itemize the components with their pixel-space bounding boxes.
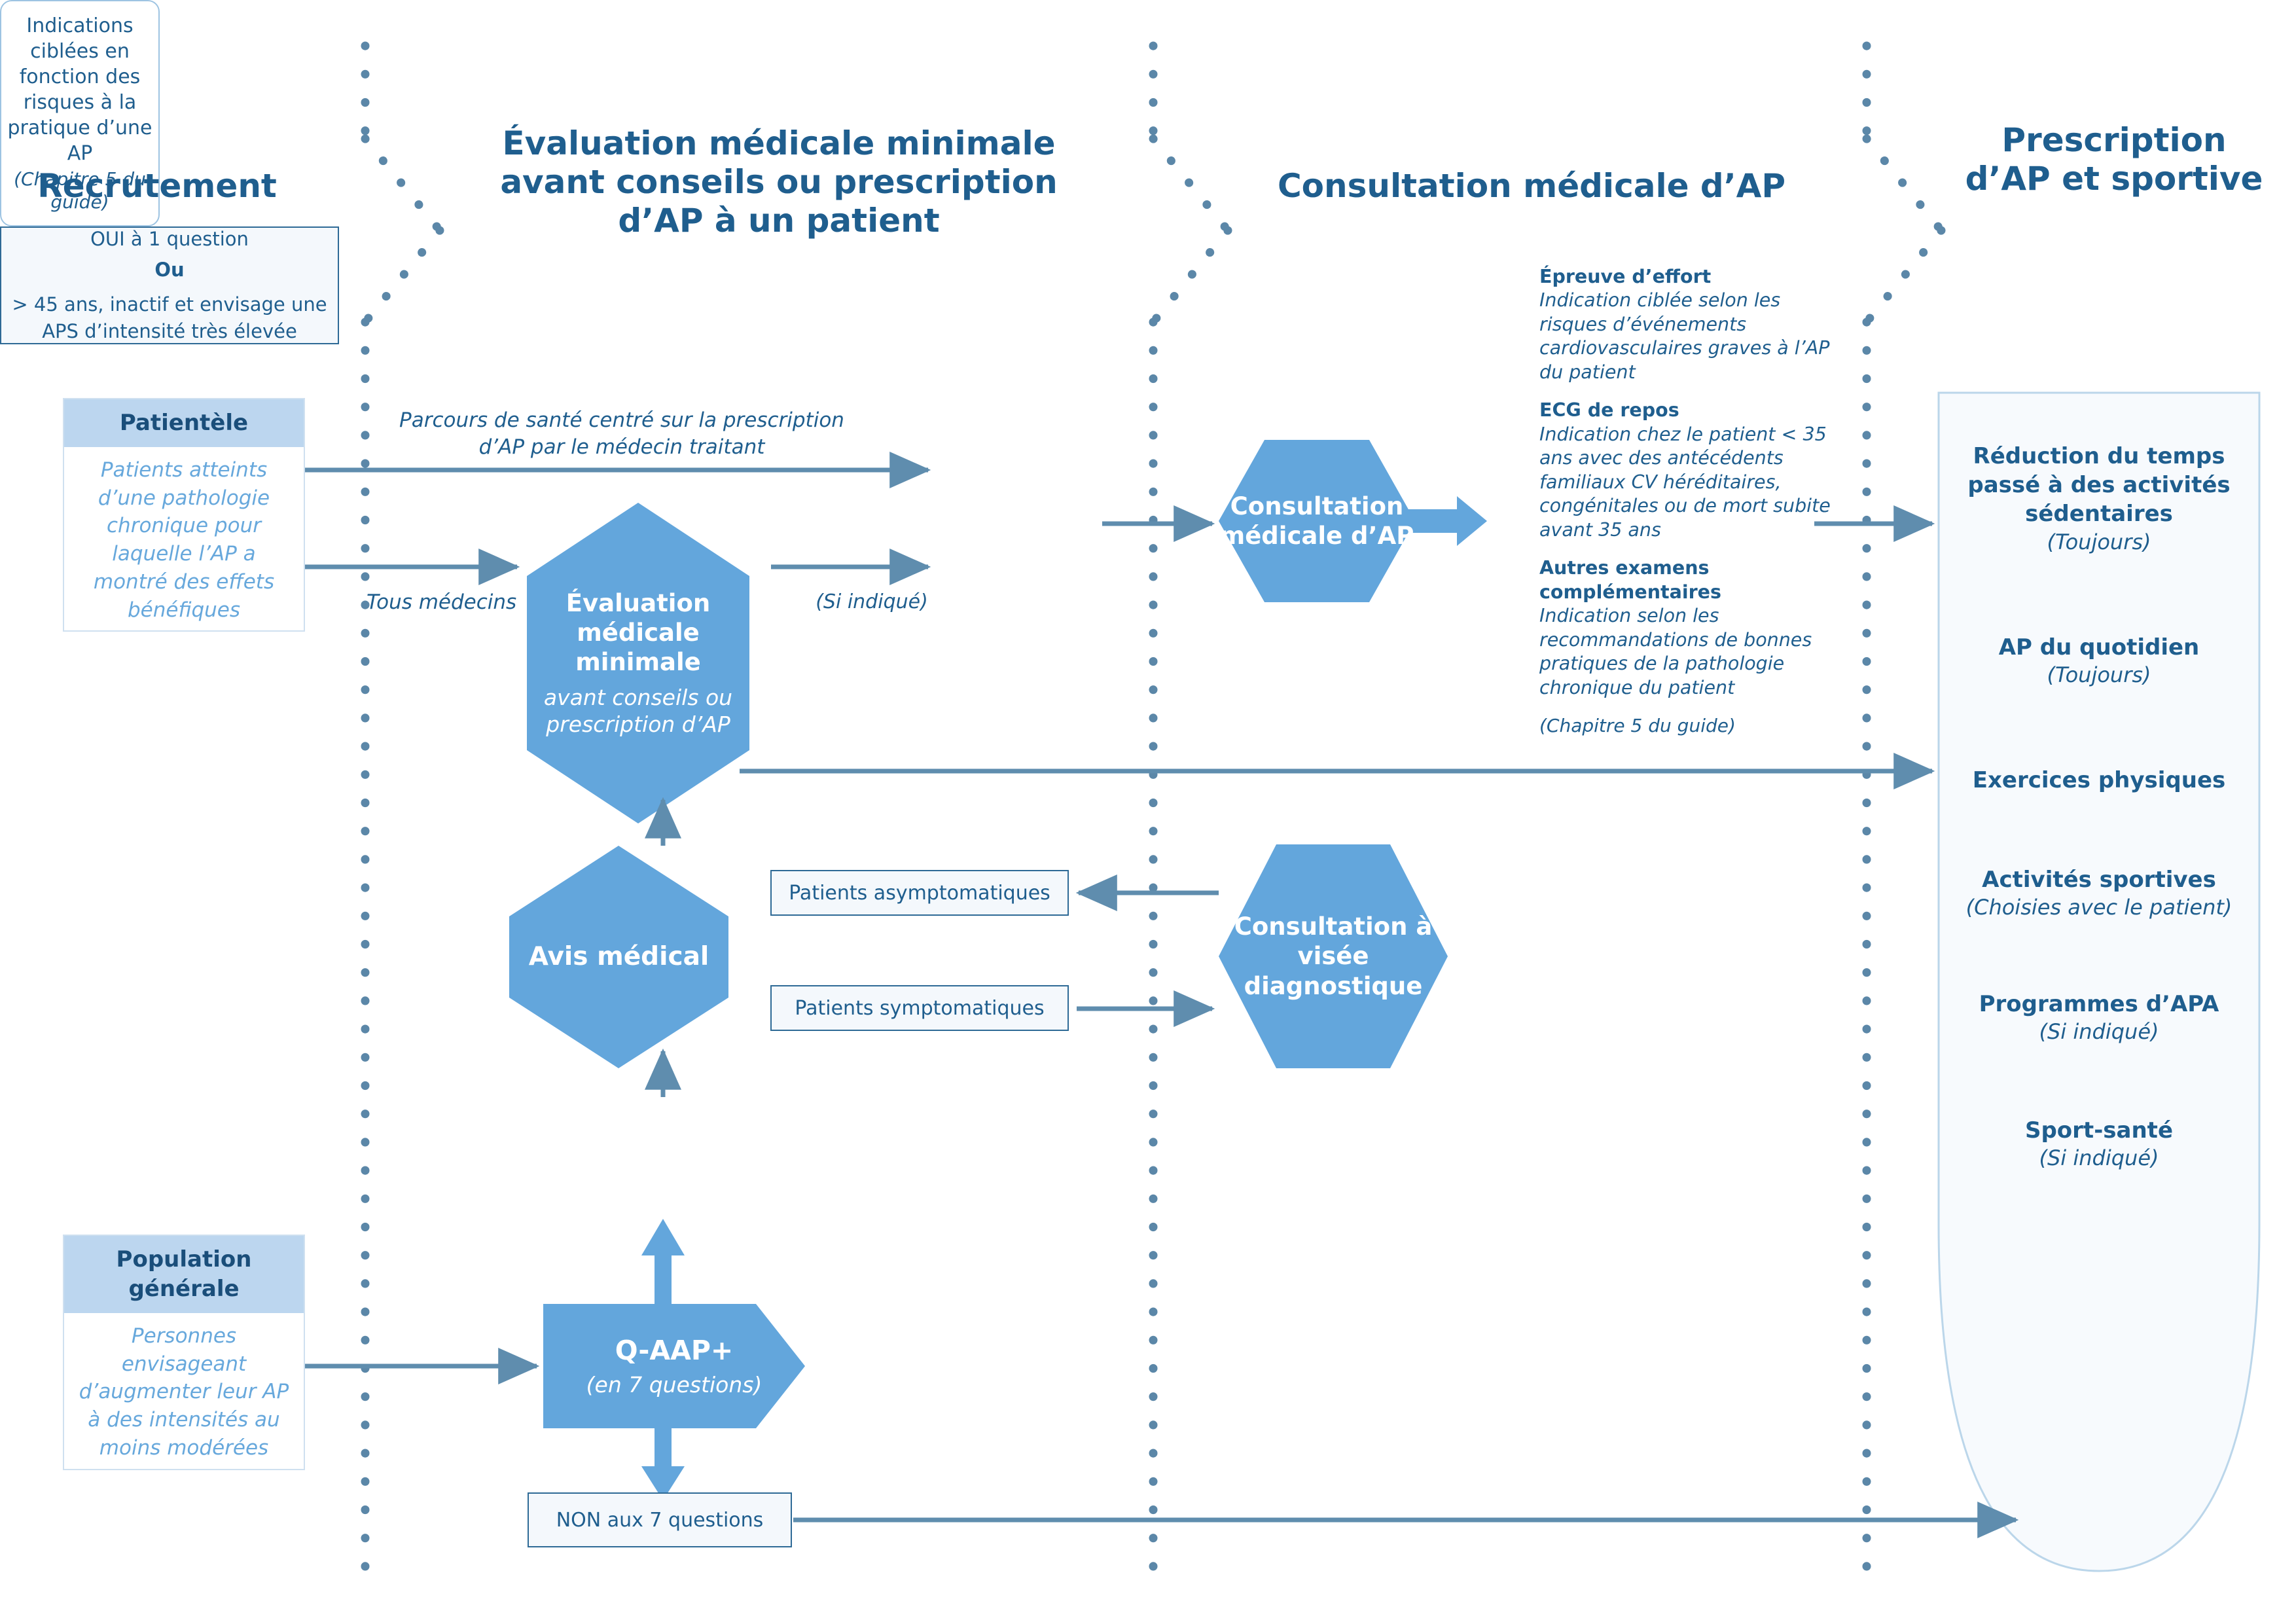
exam-body: Indication selon les recommandations de … bbox=[1539, 604, 1847, 700]
consultation-stub-arrow bbox=[1407, 496, 1487, 546]
node-evaluation-subtitle: avant conseils ou prescription d’AP bbox=[527, 685, 749, 738]
exam-item: ECG de repos Indication chez le patient … bbox=[1539, 399, 1847, 542]
funnel-item-sub: (Si indiqué) bbox=[1939, 1145, 2259, 1172]
card-patientele: Patientèle Patients atteints d’une patho… bbox=[63, 398, 305, 632]
box-oui-operator: Ou bbox=[154, 257, 184, 283]
card-population-caption: Population générale bbox=[64, 1236, 304, 1313]
label-parcours-de-sante: Parcours de santé centré sur la prescrip… bbox=[393, 407, 851, 461]
funnel-item-label: Programmes d’APA bbox=[1939, 990, 2259, 1019]
funnel-item-sub: (Si indiqué) bbox=[1939, 1019, 2259, 1045]
card-population-generale: Population générale Personnes envisagean… bbox=[63, 1235, 305, 1470]
node-consultation-medicale-ap: Consultation médicale d’AP bbox=[1219, 440, 1415, 602]
box-non-aux-7-questions: NON aux 7 questions bbox=[528, 1492, 792, 1547]
box-oui-line1: OUI à 1 question bbox=[90, 226, 249, 253]
column-divider-1 bbox=[365, 46, 440, 1571]
exams-chapter-note: (Chapitre 5 du guide) bbox=[1539, 714, 1847, 738]
box-oui-condition: OUI à 1 question Ou > 45 ans, inactif et… bbox=[0, 226, 339, 344]
node-consultation-title: Consultation médicale d’AP bbox=[1219, 492, 1415, 550]
exam-body: Indication chez le patient < 35 ans avec… bbox=[1539, 423, 1847, 542]
box-patients-asymptomatiques: Patients asymptomatiques bbox=[770, 870, 1069, 916]
qaap-down-arrow bbox=[641, 1428, 685, 1500]
funnel-item-label: Réduction du temps passé à des activités… bbox=[1939, 442, 2259, 529]
funnel-item-label: Activités sportives bbox=[1939, 865, 2259, 894]
node-evaluation-title: Évaluation médicale minimale bbox=[527, 588, 749, 677]
funnel-item-sub: (Choisies avec le patient) bbox=[1939, 894, 2259, 921]
funnel-item-sub: (Toujours) bbox=[1939, 662, 2259, 689]
card-patientele-body: Patients atteints d’une pathologie chron… bbox=[64, 447, 304, 631]
exams-notes-block: Épreuve d’effort Indication ciblée selon… bbox=[1539, 265, 1847, 738]
node-qaap-title: Q-AAP+ bbox=[615, 1334, 734, 1367]
exam-heading: Autres examens complémentaires bbox=[1539, 556, 1847, 604]
funnel-items-list: Réduction du temps passé à des activités… bbox=[1939, 393, 2259, 1172]
box-indications-title: Indications ciblées en fonction des risq… bbox=[5, 13, 154, 166]
column-header-evaluation: Évaluation médicale minimale avant conse… bbox=[458, 124, 1100, 240]
exam-item: Épreuve d’effort Indication ciblée selon… bbox=[1539, 265, 1847, 384]
funnel-item: Programmes d’APA (Si indiqué) bbox=[1939, 990, 2259, 1045]
funnel-item-label: Sport-santé bbox=[1939, 1116, 2259, 1145]
node-avis-medical: Avis médical bbox=[509, 846, 728, 1068]
funnel-item-label: Exercices physiques bbox=[1939, 766, 2259, 795]
column-header-consultation: Consultation médicale d’AP bbox=[1230, 167, 1833, 206]
node-evaluation-medicale-minimale: Évaluation médicale minimale avant conse… bbox=[527, 503, 749, 823]
funnel-item: Réduction du temps passé à des activités… bbox=[1939, 442, 2259, 556]
funnel-item: Exercices physiques bbox=[1939, 766, 2259, 795]
label-si-indique: (Si indiqué) bbox=[800, 589, 944, 615]
label-tous-medecins: Tous médecins bbox=[367, 589, 550, 616]
node-qaap-subtitle: (en 7 questions) bbox=[586, 1372, 762, 1398]
funnel-item: AP du quotidien (Toujours) bbox=[1939, 633, 2259, 689]
qaap-up-arrow bbox=[641, 1219, 685, 1304]
node-avis-title: Avis médical bbox=[529, 941, 709, 973]
funnel-item-label: AP du quotidien bbox=[1939, 633, 2259, 662]
exam-body: Indication ciblée selon les risques d’év… bbox=[1539, 289, 1847, 384]
funnel-item-sub: (Toujours) bbox=[1939, 529, 2259, 556]
column-header-prescription: Prescription d’AP et sportive bbox=[1957, 121, 2271, 198]
funnel-item: Activités sportives (Choisies avec le pa… bbox=[1939, 865, 2259, 921]
node-diagnostique-title: Consultation à visée diagnostique bbox=[1219, 912, 1448, 1000]
node-qaap-plus: Q-AAP+ (en 7 questions) bbox=[543, 1304, 805, 1428]
card-population-body: Personnes envisageant d’augmenter leur A… bbox=[64, 1313, 304, 1469]
node-consultation-visee-diagnostique: Consultation à visée diagnostique bbox=[1219, 844, 1448, 1068]
box-patients-symptomatiques: Patients symptomatiques bbox=[770, 985, 1069, 1031]
column-divider-3 bbox=[1867, 46, 1941, 1571]
column-header-recrutement: Recrutement bbox=[20, 167, 295, 206]
exam-heading: Épreuve d’effort bbox=[1539, 265, 1847, 289]
exam-heading: ECG de repos bbox=[1539, 399, 1847, 422]
column-divider-2 bbox=[1153, 46, 1228, 1571]
funnel-item: Sport-santé (Si indiqué) bbox=[1939, 1116, 2259, 1172]
box-oui-line2: > 45 ans, inactif et envisage une APS d’… bbox=[9, 291, 330, 345]
exam-item: Autres examens complémentaires Indicatio… bbox=[1539, 556, 1847, 700]
card-patientele-caption: Patientèle bbox=[64, 399, 304, 447]
